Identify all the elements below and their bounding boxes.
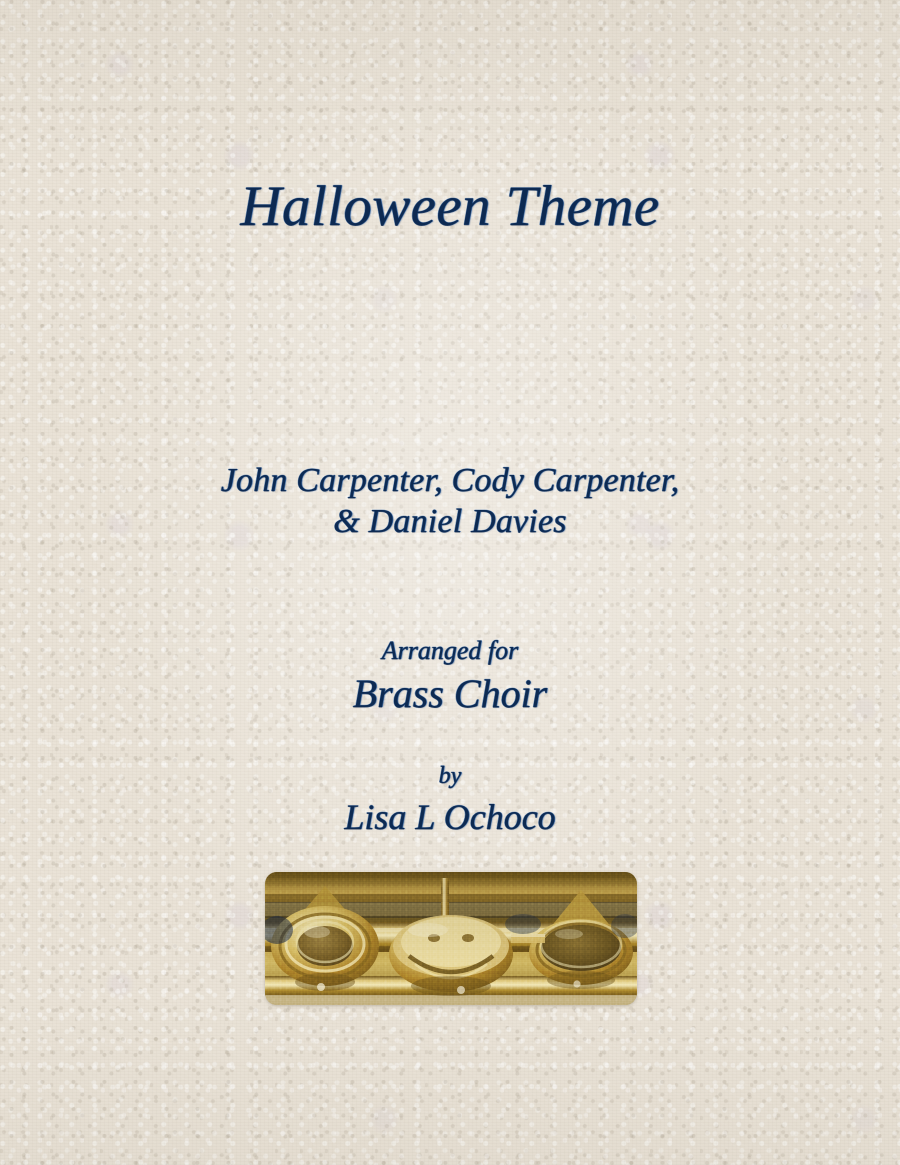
arranged-for-label: Arranged for bbox=[0, 636, 900, 666]
composer-credit: John Carpenter, Cody Carpenter, & Daniel… bbox=[0, 461, 900, 543]
page-title: Halloween Theme bbox=[0, 174, 900, 240]
by-label: by bbox=[0, 763, 900, 791]
flute-keys-illustration bbox=[265, 872, 637, 1005]
arranger-name: Lisa L Ochoco bbox=[0, 797, 900, 839]
ensemble-name: Brass Choir bbox=[0, 671, 900, 717]
sheet-music-cover-page: Halloween Theme John Carpenter, Cody Car… bbox=[0, 0, 900, 1165]
flute-keys-photo bbox=[265, 872, 637, 1005]
